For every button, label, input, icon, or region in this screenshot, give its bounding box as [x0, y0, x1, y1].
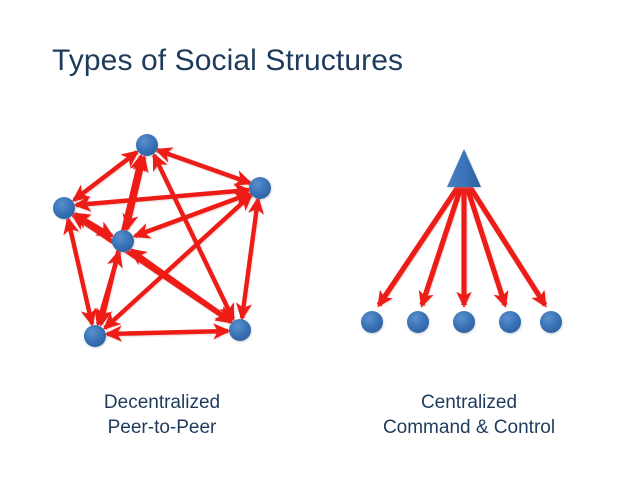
node-bottom-right[interactable] — [229, 319, 251, 341]
centralized-nodes — [361, 311, 562, 333]
decentralized-caption: Decentralized Peer-to-Peer — [40, 390, 284, 440]
edge-top-center — [127, 157, 144, 229]
decentralized-edges — [68, 150, 258, 334]
node-center[interactable] — [112, 230, 134, 252]
edge-center-bottomleft — [98, 252, 119, 324]
edge-top-left — [74, 152, 137, 200]
node-top[interactable] — [136, 134, 158, 156]
edge-left-center — [75, 214, 112, 236]
slide-canvas: Types of Social Structures — [0, 0, 638, 479]
decentralized-caption-line-2: Peer-to-Peer — [40, 415, 284, 440]
edge-top-rightupper — [157, 150, 250, 183]
centralized-node-5[interactable] — [540, 311, 562, 333]
centralized-node-3[interactable] — [453, 311, 475, 333]
edge-hub-node-5 — [470, 187, 545, 305]
edge-rightupper-bottomright — [242, 199, 258, 318]
centralized-caption: Centralized Command & Control — [344, 390, 594, 440]
edge-left-bottomleft — [68, 219, 92, 324]
decentralized-diagram-group — [53, 134, 271, 347]
centralized-diagram-group — [361, 149, 562, 333]
centralized-caption-line-1: Centralized — [344, 390, 594, 415]
centralized-node-4[interactable] — [499, 311, 521, 333]
node-left[interactable] — [53, 197, 75, 219]
centralized-node-2[interactable] — [407, 311, 429, 333]
decentralized-caption-line-1: Decentralized — [40, 390, 284, 415]
node-right-upper[interactable] — [249, 177, 271, 199]
centralized-edges — [379, 187, 545, 305]
node-bottom-left[interactable] — [84, 325, 106, 347]
edge-hub-node-1 — [379, 187, 458, 305]
edge-hub-node-4 — [467, 187, 505, 305]
edge-bottomleft-bottomright — [107, 331, 228, 334]
decentralized-nodes — [53, 134, 271, 347]
hub-triangle-icon[interactable] — [447, 149, 481, 187]
centralized-node-1[interactable] — [361, 311, 383, 333]
centralized-caption-line-2: Command & Control — [344, 415, 594, 440]
edge-hub-node-2 — [422, 187, 461, 305]
